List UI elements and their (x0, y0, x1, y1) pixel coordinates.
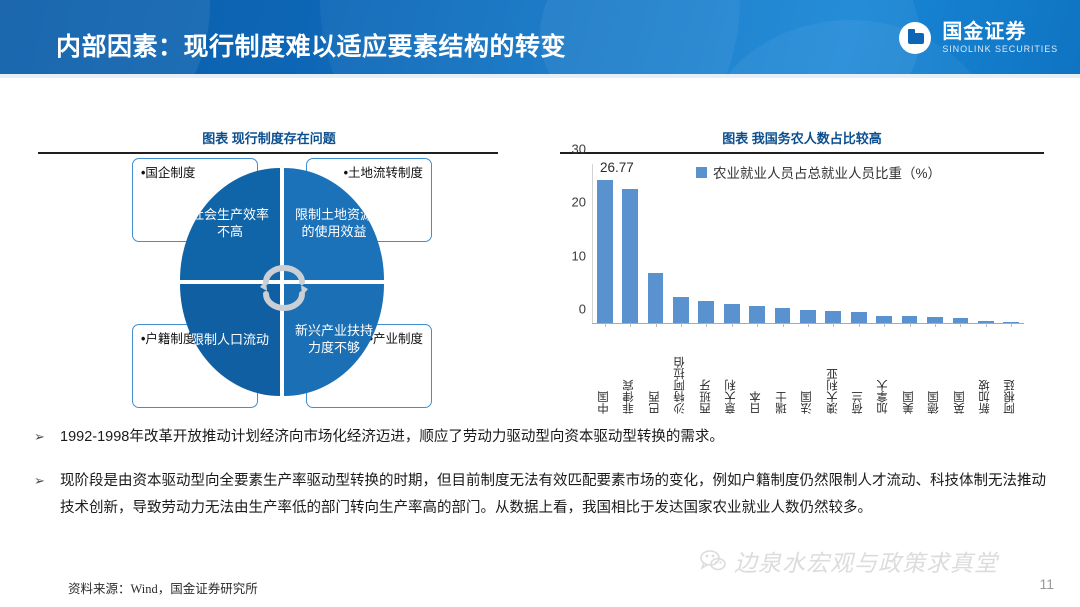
x-axis-label-阿根廷: 阿根廷 (1005, 328, 1017, 414)
x-tick-mark (986, 323, 987, 327)
bar-西班牙[interactable] (698, 301, 714, 323)
x-axis-label-法国: 法国 (802, 328, 814, 414)
bar-slot[interactable] (694, 163, 719, 323)
x-axis-label-日本: 日本 (751, 328, 763, 414)
x-label-slot: 巴西 (643, 328, 668, 414)
x-tick-mark (706, 323, 707, 327)
bar-加拿大[interactable] (876, 316, 892, 323)
header-divider (0, 74, 1080, 78)
brand-logo: 国金证券 SINOLINK SECURITIES (899, 22, 1058, 54)
x-axis-category-labels: 中国菲律宾巴西沙特阿拉伯西班牙意大利日本瑞士法国澳大利亚荷兰加拿大美国德国英国新… (592, 328, 1024, 414)
quadrant-bottom-left: 限制人口流动 (180, 284, 280, 396)
x-axis-label-美国: 美国 (904, 328, 916, 414)
x-axis-label-新加坡: 新加坡 (980, 328, 992, 414)
bar-美国[interactable] (902, 316, 918, 323)
slide-header: 内部因素：现行制度难以适应要素结构的转变 国金证券 SINOLINK SECUR… (0, 0, 1080, 78)
x-label-slot: 澳大利亚 (821, 328, 846, 414)
chart-legend: 农业就业人员占总就业人员比重（%） (696, 162, 941, 182)
y-tick-label-10: 10 (572, 248, 586, 263)
legend-color-swatch (696, 167, 707, 178)
x-label-slot: 西班牙 (694, 328, 719, 414)
chart-plot-area: 0102030 26.77 农业就业人员占总就业人员比重（%） (592, 164, 1024, 324)
bullet-text-1: 1992-1998年改革开放推动计划经济向市场化经济迈进，顺应了劳动力驱动型向资… (60, 424, 724, 451)
agriculture-employment-bar-chart: 0102030 26.77 农业就业人员占总就业人员比重（%） 中国菲律宾巴西沙… (556, 156, 1048, 416)
logo-name-en: SINOLINK SECURITIES (942, 45, 1058, 54)
x-axis-label-菲律宾: 菲律宾 (624, 328, 636, 414)
institution-problems-diagram: •国企制度 •土地流转制度 •户籍制度 •产业制度 社会生产效率不高 限制土地资… (34, 156, 504, 411)
bar-slot[interactable] (871, 163, 896, 323)
quadrant-label-tl: 社会生产效率不高 (180, 207, 280, 240)
bar-slot[interactable] (973, 163, 998, 323)
x-tick-mark (757, 323, 758, 327)
x-tick-mark (1011, 323, 1012, 327)
x-label-slot: 瑞士 (770, 328, 795, 414)
watermark-text: 边泉水宏观与政策求真堂 (734, 544, 998, 578)
y-tick-label-30: 30 (572, 142, 586, 157)
x-label-slot: 菲律宾 (617, 328, 642, 414)
quadrant-label-br: 新兴产业扶持力度不够 (284, 323, 384, 356)
x-tick-mark (833, 323, 834, 327)
bar-slot[interactable] (617, 163, 642, 323)
x-tick-mark (910, 323, 911, 327)
x-axis-label-英国: 英国 (955, 328, 967, 414)
bar-slot[interactable] (795, 163, 820, 323)
bullet-item-1: ➢ 1992-1998年改革开放推动计划经济向市场化经济迈进，顺应了劳动力驱动型… (34, 424, 1046, 451)
right-chart-panel: 0102030 26.77 农业就业人员占总就业人员比重（%） 中国菲律宾巴西沙… (556, 126, 1048, 416)
x-axis-label-澳大利亚: 澳大利亚 (828, 328, 840, 414)
x-label-slot: 德国 (922, 328, 947, 414)
x-tick-mark (884, 323, 885, 327)
source-note: 资料来源：Wind，国金证券研究所 (68, 578, 258, 597)
x-axis-label-意大利: 意大利 (726, 328, 738, 414)
x-label-slot: 法国 (795, 328, 820, 414)
bar-slot[interactable] (668, 163, 693, 323)
x-label-slot: 意大利 (719, 328, 744, 414)
bar-意大利[interactable] (724, 304, 740, 323)
x-label-slot: 中国 (592, 328, 617, 414)
x-label-slot: 日本 (744, 328, 769, 414)
quadrant-top-left: 社会生产效率不高 (180, 168, 280, 280)
bar-沙特阿拉伯[interactable] (673, 297, 689, 323)
x-tick-mark (859, 323, 860, 327)
legend-label: 农业就业人员占总就业人员比重（%） (713, 162, 941, 182)
bar-slot[interactable] (948, 163, 973, 323)
bar-日本[interactable] (749, 306, 765, 323)
x-label-slot: 加拿大 (871, 328, 896, 414)
bar-荷兰[interactable] (851, 312, 867, 323)
x-axis-label-德国: 德国 (929, 328, 941, 414)
x-tick-mark (605, 323, 606, 327)
x-label-slot: 新加坡 (973, 328, 998, 414)
x-tick-mark (935, 323, 936, 327)
x-axis-label-西班牙: 西班牙 (701, 328, 713, 414)
bar-slot[interactable] (592, 163, 617, 323)
bullet-marker-icon-1: ➢ (34, 424, 48, 451)
x-tick-mark (656, 323, 657, 327)
x-label-slot: 阿根廷 (999, 328, 1024, 414)
x-axis-label-沙特阿拉伯: 沙特阿拉伯 (675, 328, 687, 414)
bar-瑞士[interactable] (775, 308, 791, 323)
y-tick-label-20: 20 (572, 195, 586, 210)
x-label-slot: 英国 (948, 328, 973, 414)
page-title: 内部因素：现行制度难以适应要素结构的转变 (56, 27, 566, 63)
header-decoration-3 (540, 0, 920, 78)
quadrant-label-bl: 限制人口流动 (185, 332, 275, 349)
bar-slot[interactable] (897, 163, 922, 323)
y-tick-label-0: 0 (579, 302, 586, 317)
page-number: 11 (1039, 576, 1054, 592)
x-tick-mark (808, 323, 809, 327)
x-tick-mark (732, 323, 733, 327)
bar-中国[interactable] (597, 180, 613, 323)
quadrant-top-right: 限制土地资源的使用效益 (284, 168, 384, 280)
x-tick-mark (630, 323, 631, 327)
quadrant-bottom-right: 新兴产业扶持力度不够 (284, 284, 384, 396)
bar-slot[interactable] (719, 163, 744, 323)
bar-澳大利亚[interactable] (825, 311, 841, 323)
first-bar-data-label: 26.77 (600, 160, 634, 175)
bar-法国[interactable] (800, 310, 816, 323)
sinolink-circle-logo-icon (899, 22, 931, 54)
wechat-icon (700, 550, 726, 572)
quadrant-circle: 社会生产效率不高 限制土地资源的使用效益 限制人口流动 新兴产业扶持力度不够 (180, 168, 384, 396)
x-axis-label-荷兰: 荷兰 (853, 328, 865, 414)
bar-slot[interactable] (770, 163, 795, 323)
bar-slot[interactable] (643, 163, 668, 323)
bar-slot[interactable] (846, 163, 871, 323)
x-tick-mark (960, 323, 961, 327)
x-label-slot: 美国 (897, 328, 922, 414)
x-axis-label-巴西: 巴西 (650, 328, 662, 414)
bar-slot[interactable] (999, 163, 1024, 323)
body-bullet-list: ➢ 1992-1998年改革开放推动计划经济向市场化经济迈进，顺应了劳动力驱动型… (34, 424, 1046, 538)
watermark: 边泉水宏观与政策求真堂 (700, 544, 998, 578)
logo-name-cn: 国金证券 (942, 22, 1058, 42)
bar-slot[interactable] (922, 163, 947, 323)
bullet-item-2: ➢ 现阶段是由资本驱动型向全要素生产率驱动型转换的时期，但目前制度无法有效匹配要… (34, 468, 1046, 522)
logo-text-block: 国金证券 SINOLINK SECURITIES (942, 22, 1058, 54)
slide-canvas: 内部因素：现行制度难以适应要素结构的转变 国金证券 SINOLINK SECUR… (0, 0, 1080, 607)
bar-series (592, 163, 1024, 323)
x-axis-label-加拿大: 加拿大 (878, 328, 890, 414)
bar-巴西[interactable] (648, 273, 664, 323)
bar-slot[interactable] (744, 163, 769, 323)
left-diagram-panel: •国企制度 •土地流转制度 •户籍制度 •产业制度 社会生产效率不高 限制土地资… (34, 126, 504, 411)
x-axis-label-瑞士: 瑞士 (777, 328, 789, 414)
bullet-marker-icon-2: ➢ (34, 468, 48, 522)
x-label-slot: 沙特阿拉伯 (668, 328, 693, 414)
x-label-slot: 荷兰 (846, 328, 871, 414)
x-tick-mark (681, 323, 682, 327)
bullet-text-2: 现阶段是由资本驱动型向全要素生产率驱动型转换的时期，但目前制度无法有效匹配要素市… (60, 468, 1046, 522)
x-axis-label-中国: 中国 (599, 328, 611, 414)
bar-菲律宾[interactable] (622, 189, 638, 323)
x-tick-mark (783, 323, 784, 327)
quadrant-label-tr: 限制土地资源的使用效益 (284, 207, 384, 240)
bar-slot[interactable] (821, 163, 846, 323)
